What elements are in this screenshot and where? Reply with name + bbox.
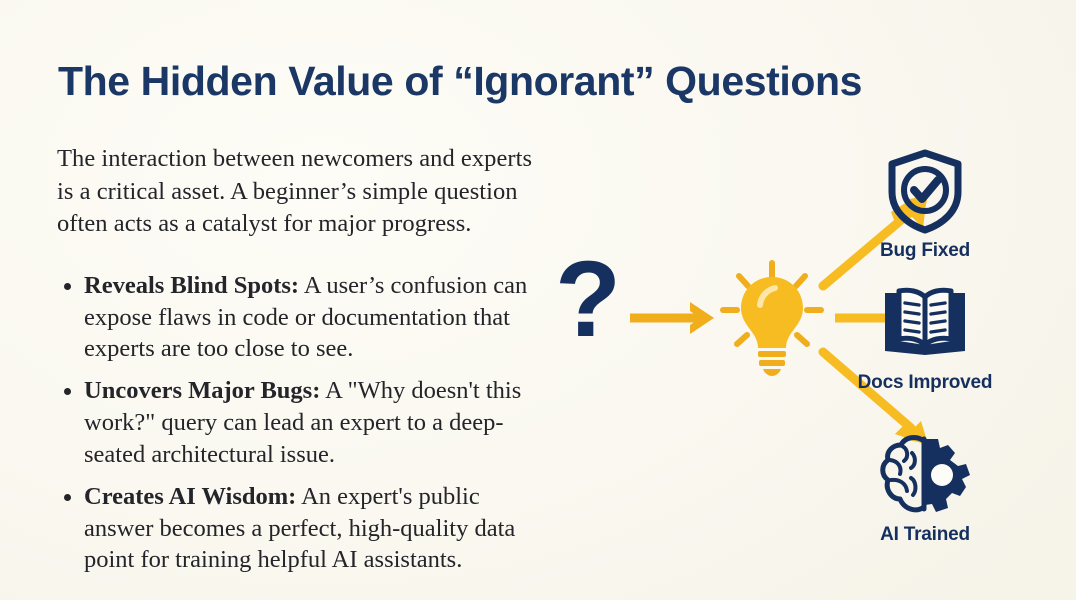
outcome-label: Bug Fixed xyxy=(845,240,1005,262)
outcome-label: Docs Improved xyxy=(845,372,1005,394)
list-item: Uncovers Major Bugs: A "Why doesn't this… xyxy=(57,375,537,471)
brain-gear-icon-wrap xyxy=(845,432,1005,518)
brain-gear-icon xyxy=(878,433,972,517)
arrow-right-icon xyxy=(630,296,720,340)
outcome-ai-trained: AI Trained xyxy=(845,432,1005,546)
outcome-bug-fixed: Bug Fixed xyxy=(845,148,1005,262)
bullet-heading: Creates AI Wisdom: xyxy=(84,483,296,510)
benefits-list: Reveals Blind Spots: A user’s confusion … xyxy=(57,270,537,577)
bullet-heading: Reveals Blind Spots: xyxy=(84,272,299,299)
question-mark-icon: ? xyxy=(555,245,621,353)
shield-check-icon xyxy=(884,148,966,234)
shield-check-icon-wrap xyxy=(845,148,1005,234)
flow-diagram: ? xyxy=(545,120,1065,580)
open-book-icon-wrap xyxy=(845,280,1005,366)
page-title: The Hidden Value of “Ignorant” Questions xyxy=(58,58,1018,105)
left-text-column: The interaction between newcomers and ex… xyxy=(57,143,537,586)
open-book-icon xyxy=(879,283,971,363)
outcome-label: AI Trained xyxy=(845,524,1005,546)
slide-canvas: The Hidden Value of “Ignorant” Questions… xyxy=(0,0,1076,600)
list-item: Creates AI Wisdom: An expert's public an… xyxy=(57,481,537,577)
intro-paragraph: The interaction between newcomers and ex… xyxy=(57,143,537,241)
outcome-docs-improved: Docs Improved xyxy=(845,280,1005,394)
bullet-heading: Uncovers Major Bugs: xyxy=(84,377,320,404)
lightbulb-icon xyxy=(713,259,831,377)
list-item: Reveals Blind Spots: A user’s confusion … xyxy=(57,270,537,366)
